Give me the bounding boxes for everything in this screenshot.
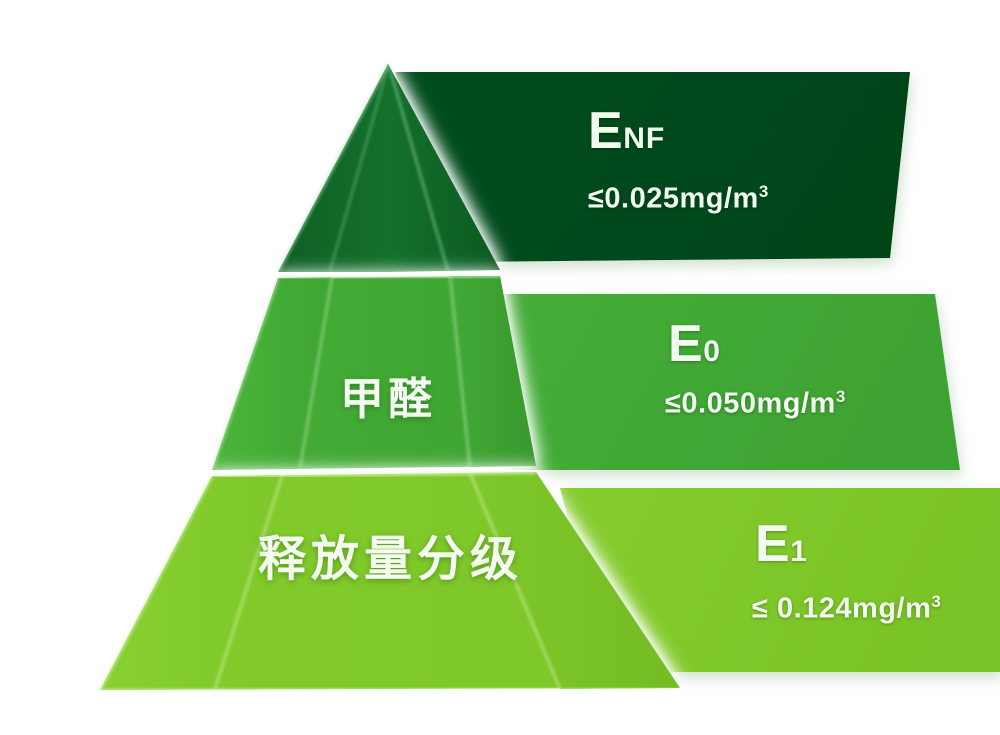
infographic-canvas: ENF ≤0.025mg/m3 E0 ≤0.050mg/m3 E1 ≤ 0.12… <box>0 0 1000 735</box>
formaldehyde-grade-pyramid-figure <box>0 0 1000 735</box>
grade-banner-e0 <box>470 294 960 470</box>
pyramid-tier-e0 <box>212 276 536 470</box>
